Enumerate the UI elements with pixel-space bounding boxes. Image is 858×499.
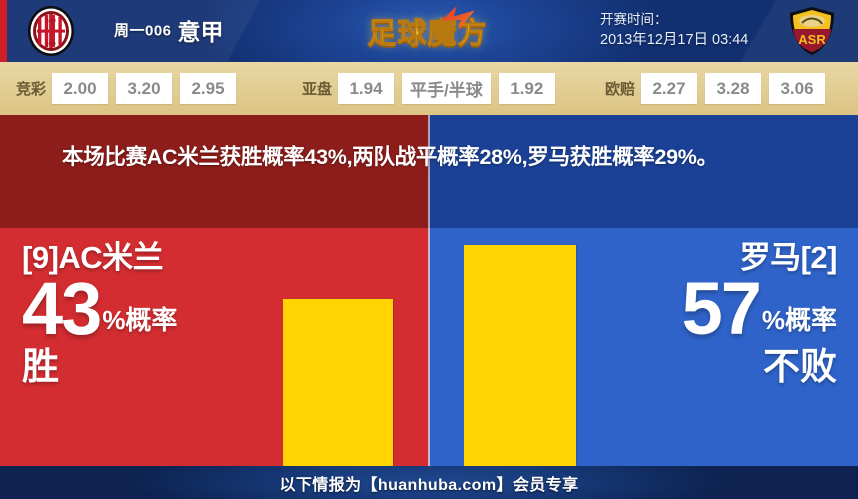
probability-chart: [9]AC米兰 43 %概率 胜 罗马[2] 57 %概率 不败	[0, 228, 858, 466]
ac-milan-crest-icon: ACM 1899	[23, 4, 79, 58]
away-outcome-label: 不败	[585, 348, 837, 385]
odds-cell-yapan-handicap[interactable]: 平手/半球	[402, 73, 491, 104]
odds-group-yapan: 亚盘 1.94 平手/半球 1.92	[302, 62, 555, 115]
odds-group-label: 欧赔	[605, 78, 635, 99]
odds-cell-jingcai-draw[interactable]: 3.20	[116, 73, 172, 104]
summary-text: 本场比赛AC米兰获胜概率43%,两队战平概率28%,罗马获胜概率29%。	[62, 142, 802, 173]
match-title: 周一006意甲	[114, 13, 224, 47]
away-team-block: 罗马[2] 57 %概率 不败	[585, 242, 837, 385]
brand-logo-text: 足球魔方	[355, 10, 500, 52]
odds-group-oupei: 欧赔 2.27 3.28 3.06	[605, 62, 825, 115]
odds-cell-jingcai-away[interactable]: 2.95	[180, 73, 236, 104]
kickoff-info: 开赛时间： 2013年12月17日 03:44	[600, 10, 748, 51]
odds-bar: 竞彩 2.00 3.20 2.95 亚盘 1.94 平手/半球 1.92 欧赔 …	[0, 62, 858, 115]
odds-group-label: 竞彩	[16, 78, 46, 99]
odds-group-label: 亚盘	[302, 78, 332, 99]
footer-text: 以下情报为【huanhuba.com】会员专享	[280, 471, 579, 495]
odds-cell-oupei-away[interactable]: 3.06	[769, 73, 825, 104]
footer-bar: 以下情报为【huanhuba.com】会员专享	[0, 466, 858, 499]
header-accent-stripe	[0, 0, 7, 62]
away-probability-bar	[464, 245, 576, 466]
kickoff-datetime: 2013年12月17日 03:44	[600, 30, 748, 51]
panel-divider	[428, 228, 430, 466]
odds-cell-yapan-away[interactable]: 1.92	[499, 73, 555, 104]
away-probability-row: 57 %概率	[585, 275, 837, 344]
match-probability-infographic: ACM 1899 周一006意甲 足球魔方 开赛时间： 2013年12月17日 …	[0, 0, 858, 499]
svg-text:ACM: ACM	[46, 18, 56, 23]
away-probability-value: 57	[682, 275, 760, 344]
brand-logo: 足球魔方	[355, 4, 500, 56]
odds-cell-oupei-home[interactable]: 2.27	[641, 73, 697, 104]
summary-band: 本场比赛AC米兰获胜概率43%,两队战平概率28%,罗马获胜概率29%。	[0, 115, 858, 228]
home-probability-value: 43	[22, 275, 100, 344]
as-roma-crest-icon: ASR	[786, 5, 838, 57]
match-round: 周一006	[114, 23, 172, 40]
odds-cell-oupei-draw[interactable]: 3.28	[705, 73, 761, 104]
odds-group-jingcai: 竞彩 2.00 3.20 2.95	[16, 62, 236, 115]
odds-cell-jingcai-home[interactable]: 2.00	[52, 73, 108, 104]
home-probability-unit: %概率	[102, 307, 177, 344]
home-outcome-label: 胜	[22, 348, 272, 385]
match-league: 意甲	[178, 19, 224, 45]
kickoff-label: 开赛时间：	[600, 10, 748, 30]
odds-cell-yapan-home[interactable]: 1.94	[338, 73, 394, 104]
header-bar: ACM 1899 周一006意甲 足球魔方 开赛时间： 2013年12月17日 …	[0, 0, 858, 62]
home-probability-bar	[283, 299, 393, 466]
away-probability-unit: %概率	[762, 307, 837, 344]
home-team-block: [9]AC米兰 43 %概率 胜	[22, 242, 272, 385]
svg-text:1899: 1899	[46, 41, 56, 46]
svg-text:ASR: ASR	[798, 32, 826, 47]
home-probability-row: 43 %概率	[22, 275, 272, 344]
